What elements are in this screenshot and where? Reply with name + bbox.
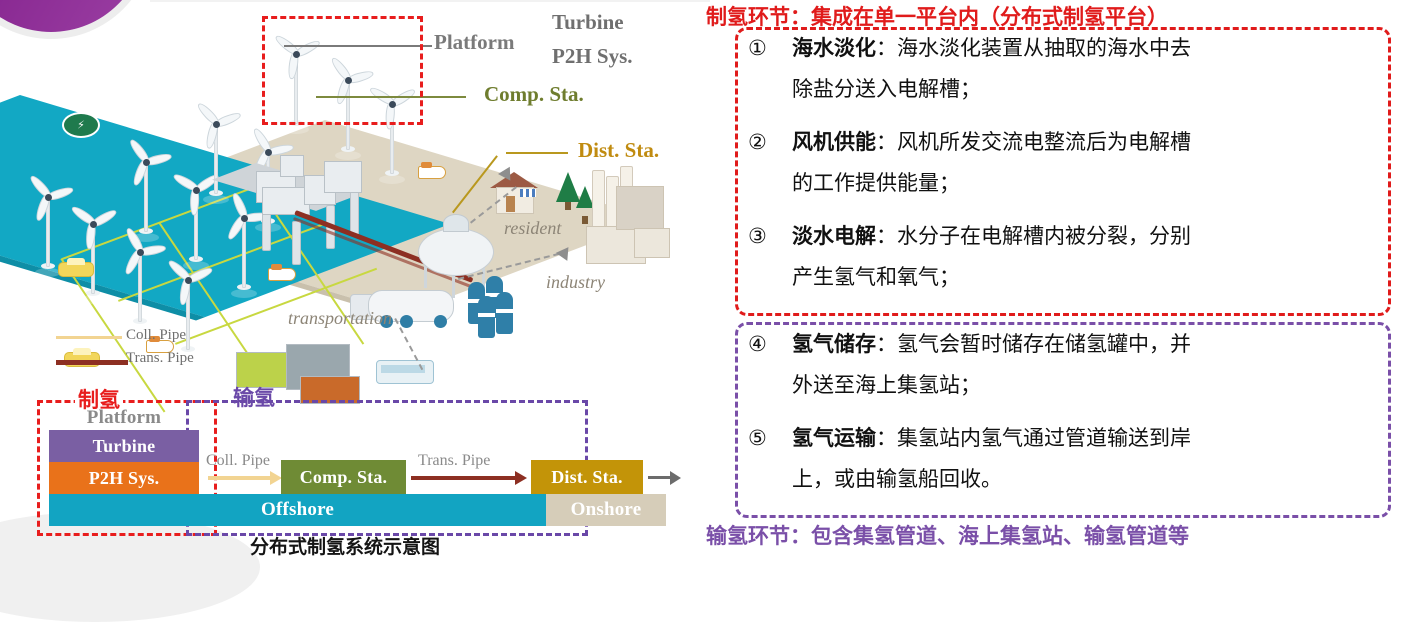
block-turbine: Turbine xyxy=(49,430,199,462)
left-illustration-panel: ⚡ xyxy=(0,0,690,550)
transport-stage-tag: 输氢 xyxy=(230,382,278,412)
block-arrow-coll-pipe xyxy=(208,476,270,480)
transport-section-title: 输氢环节：包含集氢管道、海上集氢站、输氢管道等 xyxy=(706,520,1189,550)
block-p2h-sys: P2H Sys. xyxy=(49,462,199,494)
hydrogen-cylinder xyxy=(496,292,513,334)
legend-label-trans-pipe: Trans. Pipe xyxy=(126,350,194,367)
factory-building xyxy=(616,186,664,230)
step-number: ② xyxy=(748,132,792,153)
residential-house xyxy=(490,172,538,212)
diagram-caption: 分布式制氢系统示意图 xyxy=(0,532,690,559)
block-arrow-output xyxy=(648,476,672,479)
helipad-icon: ⚡ xyxy=(62,112,100,138)
step-text: ：氢气会暂时储存在储氢罐中，并 xyxy=(876,333,1191,356)
step-text: ：风机所发交流电整流后为电解槽 xyxy=(876,131,1191,154)
scene-production-highlight-box xyxy=(262,16,423,125)
system-block-diagram: 制氢 输氢 Platform Turbine P2H Sys. Coll. Pi… xyxy=(0,398,690,550)
block-arrowhead-trans-pipe xyxy=(515,471,527,485)
block-offshore: Offshore xyxy=(49,494,546,526)
scene-label-transportation: transportation xyxy=(288,308,392,329)
bus-icon xyxy=(376,360,434,384)
block-comp-sta: Comp. Sta. xyxy=(281,460,406,494)
car-icon xyxy=(58,262,94,277)
block-dist-sta: Dist. Sta. xyxy=(531,460,643,494)
step-item: ② 风机供能：风机所发交流电整流后为电解槽 的工作提供能量； xyxy=(748,132,1384,197)
step-text-cont: 产生氢气和氧气； xyxy=(792,261,1384,291)
legend-label-coll-pipe: Coll. Pipe xyxy=(126,327,186,344)
leader-line-dist xyxy=(506,152,568,154)
step-text-cont: 外送至海上集氢站； xyxy=(792,369,1384,399)
ship-icon xyxy=(418,166,446,179)
factory-stack xyxy=(592,170,605,234)
factory-building xyxy=(634,228,670,258)
hydrogen-storage-tank xyxy=(418,228,494,276)
block-arrow-trans-pipe xyxy=(411,476,515,480)
scene-label-p2h: P2H Sys. xyxy=(552,44,633,69)
block-label-trans-pipe: Trans. Pipe xyxy=(418,452,490,470)
step-text-cont: 的工作提供能量； xyxy=(792,167,1384,197)
step-item: ⑤ 氢气运输：集氢站内氢气通过管道输送到岸 上，或由输氢船回收。 xyxy=(748,428,1384,493)
step-text: ：集氢站内氢气通过管道输送到岸 xyxy=(876,427,1191,450)
step-item: ③ 淡水电解：水分子在电解槽内被分裂，分别 产生氢气和氧气； xyxy=(748,226,1384,291)
step-term: 氢气储存 xyxy=(792,333,876,356)
legend-swatch-trans-pipe xyxy=(56,360,128,365)
step-item: ④ 氢气储存：氢气会暂时储存在储氢罐中，并 外送至海上集氢站； xyxy=(748,334,1384,399)
step-text: ：水分子在电解槽内被分裂，分别 xyxy=(876,225,1191,248)
step-term: 海水淡化 xyxy=(792,37,876,60)
block-arrowhead-output xyxy=(670,471,681,485)
step-text-cont: 除盐分送入电解槽； xyxy=(792,73,1384,103)
step-number: ③ xyxy=(748,226,792,247)
step-number: ① xyxy=(748,38,792,59)
legend-swatch-coll-pipe xyxy=(56,336,122,339)
block-platform: Platform xyxy=(49,406,199,430)
step-number: ④ xyxy=(748,334,792,355)
step-term: 淡水电解 xyxy=(792,225,876,248)
right-text-panel: 制氢环节：集成在单一平台内（分布式制氢平台） ① 海水淡化：海水淡化装置从抽取的… xyxy=(690,0,1408,550)
helipad-glyph: ⚡ xyxy=(77,119,85,132)
step-number: ⑤ xyxy=(748,428,792,449)
scene-label-comp-sta: Comp. Sta. xyxy=(484,82,584,107)
hydrogen-tank-top xyxy=(443,214,469,232)
isometric-offshore-scene: ⚡ xyxy=(0,0,690,420)
scene-label-dist-sta: Dist. Sta. xyxy=(578,138,659,163)
scene-label-industry: industry xyxy=(546,272,605,293)
scene-label-turbine: Turbine xyxy=(552,10,624,35)
step-term: 氢气运输 xyxy=(792,427,876,450)
step-text: ：海水淡化装置从抽取的海水中去 xyxy=(876,37,1191,60)
step-term: 风机供能 xyxy=(792,131,876,154)
ship-icon xyxy=(268,268,296,281)
step-item: ① 海水淡化：海水淡化装置从抽取的海水中去 除盐分送入电解槽； xyxy=(748,38,1384,103)
hydrogen-cylinder xyxy=(478,296,495,338)
block-label-coll-pipe: Coll. Pipe xyxy=(206,452,270,470)
scene-label-resident: resident xyxy=(504,218,561,239)
scene-label-platform: Platform xyxy=(434,30,514,55)
step-text-cont: 上，或由输氢船回收。 xyxy=(792,463,1384,493)
block-onshore: Onshore xyxy=(546,494,666,526)
